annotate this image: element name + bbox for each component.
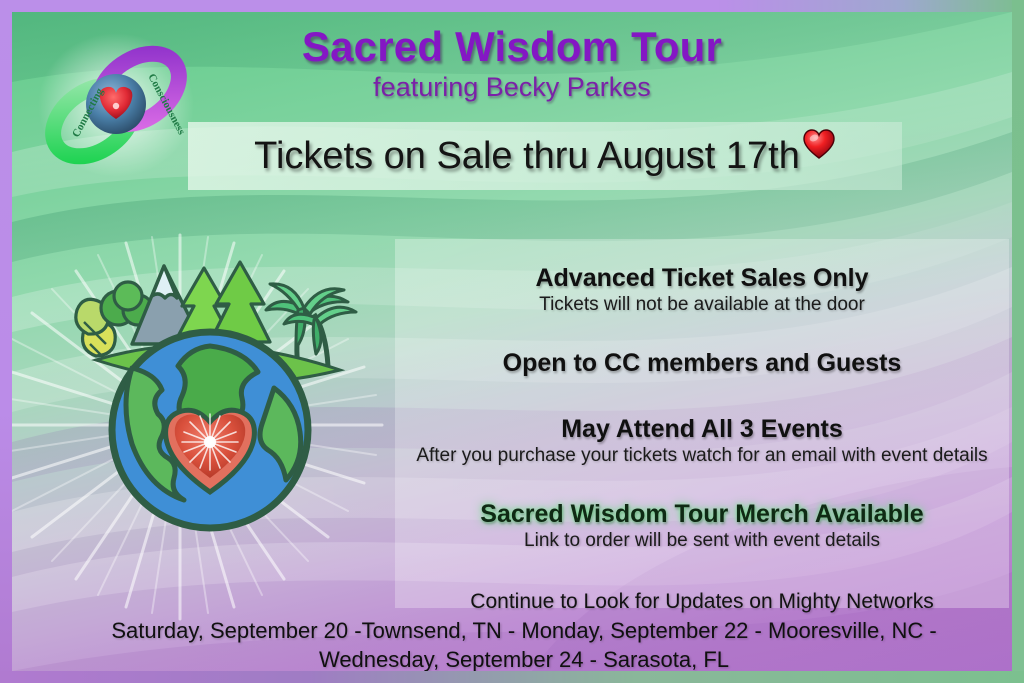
tour-dates-line: Saturday, September 20 -Townsend, TN - M… — [52, 616, 996, 671]
panel-heading-1: Open to CC members and Guests — [413, 348, 991, 378]
poster-root: Connecting Consciousness Sacred Wisdom T… — [0, 0, 1024, 683]
poster-canvas: Connecting Consciousness Sacred Wisdom T… — [12, 12, 1012, 671]
frame-top — [0, 0, 1024, 12]
frame-bottom — [0, 671, 1024, 683]
frame-right — [1012, 0, 1024, 683]
panel-heading-3: Sacred Wisdom Tour Merch Available — [413, 499, 991, 529]
panel-detail-3: Link to order will be sent with event de… — [413, 529, 991, 552]
panel-item-2: May Attend All 3 Events After you purcha… — [413, 414, 991, 467]
info-panel: Advanced Ticket Sales Only Tickets will … — [395, 239, 1009, 608]
panel-detail-0: Tickets will not be available at the doo… — [413, 293, 991, 316]
panel-closing-note: Continue to Look for Updates on Mighty N… — [413, 589, 991, 615]
panel-heading-2: May Attend All 3 Events — [413, 414, 991, 444]
ticket-sale-text: Tickets on Sale thru August 17th — [254, 135, 800, 178]
page-subtitle: featuring Becky Parkes — [12, 71, 1012, 105]
panel-item-3: Sacred Wisdom Tour Merch Available Link … — [413, 499, 991, 552]
panel-detail-2: After you purchase your tickets watch fo… — [413, 444, 991, 467]
page-title: Sacred Wisdom Tour — [12, 24, 1012, 69]
panel-heading-0: Advanced Ticket Sales Only — [413, 263, 991, 293]
earth-globe-illustration — [60, 248, 360, 548]
headline-block: Sacred Wisdom Tour featuring Becky Parke… — [12, 24, 1012, 105]
panel-item-1: Open to CC members and Guests — [413, 348, 991, 378]
panel-item-0: Advanced Ticket Sales Only Tickets will … — [413, 263, 991, 316]
frame-left — [0, 0, 12, 683]
heart-icon — [802, 128, 836, 165]
ticket-sale-banner: Tickets on Sale thru August 17th — [188, 122, 902, 190]
